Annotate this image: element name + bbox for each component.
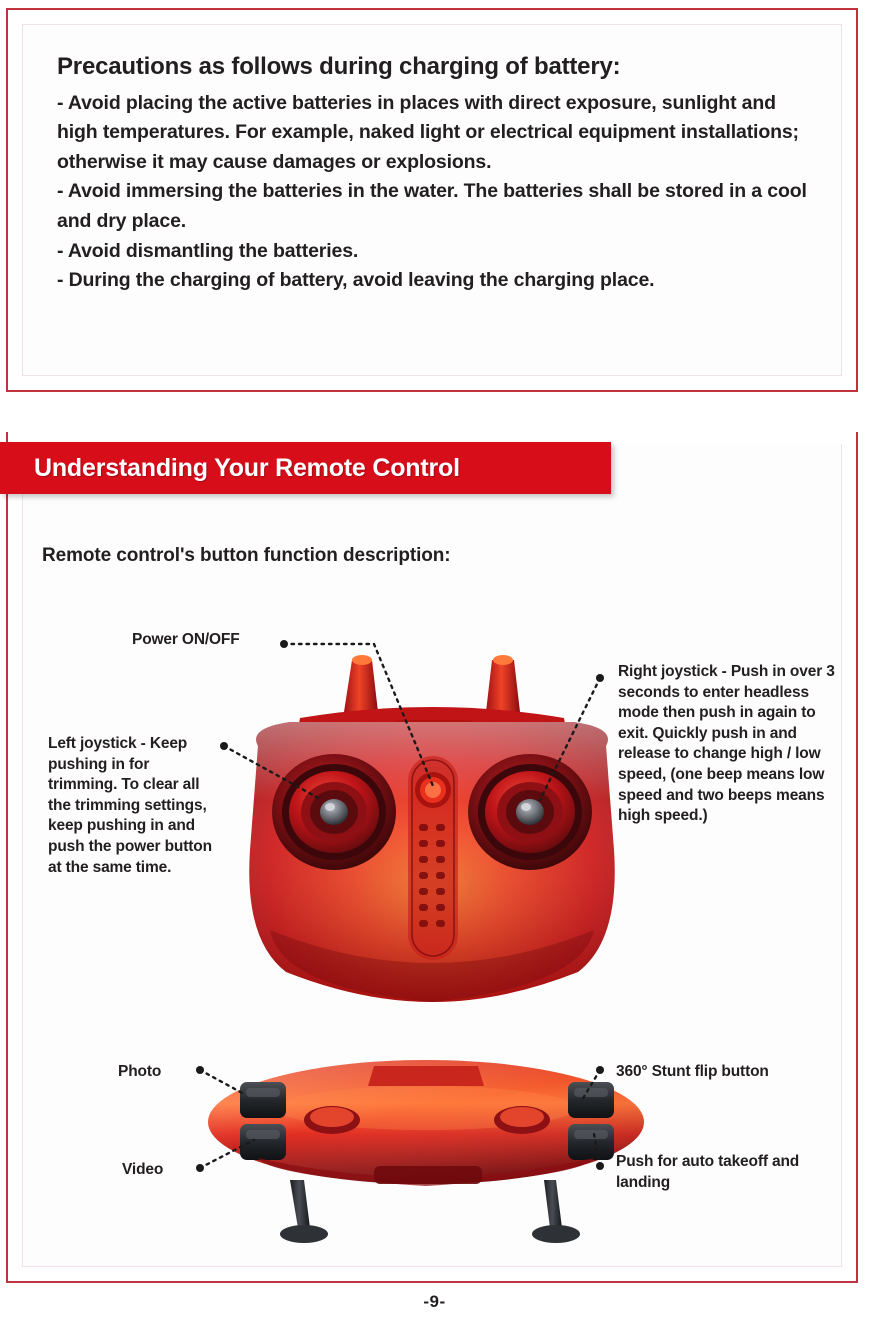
remote-subtitle: Remote control's button function descrip…: [42, 545, 451, 567]
remote-control-diagram: Power ON/OFF Left joystick - Keep pushin…: [22, 600, 846, 1270]
remote-top-view: [208, 1060, 644, 1243]
precautions-item: - Avoid immersing the batteries in the w…: [57, 177, 807, 236]
remote-front-view: [249, 655, 615, 1002]
power-button: [415, 772, 451, 808]
section-banner: Understanding Your Remote Control: [0, 442, 611, 494]
annotation-left-joystick-label: Left joystick - Keep pushing in for trim…: [48, 734, 220, 878]
leader-dot-right-joystick: [596, 674, 604, 682]
annotation-auto-takeoff-label: Push for auto takeoff and landing: [616, 1152, 834, 1193]
page-number: -9-: [0, 1292, 869, 1312]
precautions-inner-frame: Precautions as follows during charging o…: [22, 24, 842, 376]
manual-page: Precautions as follows during charging o…: [0, 0, 869, 1342]
leader-dot-left-joystick: [220, 742, 228, 750]
precautions-list: - Avoid placing the active batteries in …: [57, 89, 807, 296]
precautions-title: Precautions as follows during charging o…: [57, 53, 807, 81]
annotation-right-joystick-label: Right joystick - Push in over 3 seconds …: [618, 662, 838, 827]
leader-dot-power: [280, 640, 288, 648]
left-joystick: [272, 754, 396, 870]
center-panel: [408, 756, 458, 960]
leader-dot-auto-takeoff: [596, 1162, 604, 1170]
section-banner-label: Understanding Your Remote Control: [0, 454, 460, 483]
leader-dot-photo: [196, 1066, 204, 1074]
precautions-item: - Avoid placing the active batteries in …: [57, 89, 807, 178]
right-joystick: [468, 754, 592, 870]
leader-dot-stunt-flip: [596, 1066, 604, 1074]
precautions-content: Precautions as follows during charging o…: [57, 53, 807, 296]
precautions-panel: Precautions as follows during charging o…: [6, 8, 858, 392]
annotation-photo-label: Photo: [118, 1062, 161, 1083]
annotation-video-label: Video: [122, 1160, 163, 1181]
precautions-item: - Avoid dismantling the batteries.: [57, 237, 807, 267]
leader-photo: [200, 1070, 244, 1094]
annotation-stunt-flip-label: 360° Stunt flip button: [616, 1062, 769, 1083]
precautions-item: - During the charging of battery, avoid …: [57, 266, 807, 296]
annotation-power-label: Power ON/OFF: [132, 630, 240, 651]
leader-dot-video: [196, 1164, 204, 1172]
